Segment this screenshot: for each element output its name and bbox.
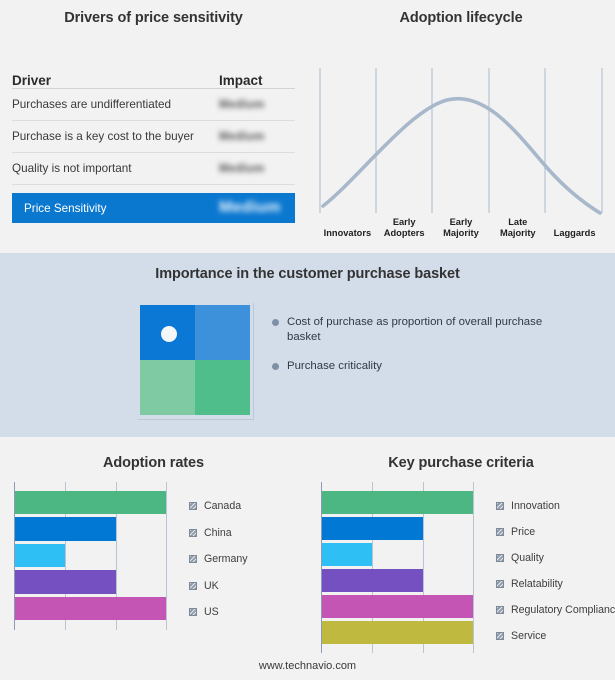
chart-legend: InnovationPriceQualityRelatabilityRegula… [496, 493, 615, 649]
adoption-rates-panel: Adoption rates CanadaChinaGermanyUKUS [0, 437, 307, 680]
purchase-basket-section: Importance in the customer purchase bask… [0, 253, 615, 437]
lifecycle-stage-laggards: Laggards [546, 206, 603, 240]
legend-label: Purchase criticality [287, 359, 382, 374]
bar-row-germany [15, 542, 167, 569]
adoption-lifecycle-chart: Innovators Early Adopters Early Majority… [319, 58, 603, 240]
top-section: Drivers of price sensitivity Driver Impa… [0, 0, 615, 253]
cell-impact: Medium [219, 98, 295, 111]
impact-value-redacted: Medium [219, 98, 264, 111]
bar-row-china [15, 516, 167, 543]
bar [15, 517, 116, 541]
bar-row-service [322, 619, 474, 645]
legend-item-china: China [189, 520, 248, 547]
legend-swatch-icon [496, 632, 504, 640]
position-marker-dot [161, 326, 177, 342]
table-row: Purchase is a key cost to the buyer Medi… [12, 121, 295, 153]
bottom-section: Adoption rates CanadaChinaGermanyUKUS Ke… [0, 437, 615, 680]
bar-row-price [322, 515, 474, 541]
footer-url: www.technavio.com [0, 660, 615, 672]
page-title-key-criteria: Key purchase criteria [307, 455, 615, 471]
legend-item-relatability: Relatability [496, 571, 615, 597]
legend-swatch-icon [189, 608, 197, 616]
column-header-driver: Driver [12, 73, 219, 88]
legend-item-germany: Germany [189, 546, 248, 573]
legend-item-uk: UK [189, 573, 248, 600]
cell-impact: Medium [219, 162, 295, 175]
cell-impact-highlighted: Medium [219, 199, 295, 217]
stage-line-2: Adopters [376, 228, 433, 239]
legend-label: Quality [511, 552, 544, 564]
table-row: Quality is not important Medium [12, 153, 295, 185]
impact-value-redacted: Medium [219, 130, 264, 143]
legend-label: Relatability [511, 578, 563, 590]
legend-swatch-icon [189, 529, 197, 537]
bar-row-us [15, 595, 167, 622]
legend-label: Regulatory Compliance [511, 604, 615, 616]
bar [15, 597, 166, 621]
stage-line-1: Innovators [319, 228, 376, 239]
lifecycle-stage-late-majority: Late Majority [489, 206, 546, 240]
bar [15, 544, 65, 568]
quadrant-top-right [195, 305, 250, 360]
cell-driver: Purchase is a key cost to the buyer [12, 130, 219, 143]
legend-label: Service [511, 630, 546, 642]
legend-item-service: Service [496, 623, 615, 649]
quadrant-matrix [140, 305, 250, 415]
infographic-page: Drivers of price sensitivity Driver Impa… [0, 0, 615, 680]
page-title-drivers: Drivers of price sensitivity [0, 10, 307, 26]
column-header-impact: Impact [219, 73, 295, 88]
bar [322, 569, 423, 592]
legend-swatch-icon [189, 502, 197, 510]
bar-row-innovation [322, 489, 474, 515]
lifecycle-stage-early-adopters: Early Adopters [376, 206, 433, 240]
legend-label: Germany [204, 553, 248, 565]
key-purchase-criteria-chart: InnovationPriceQualityRelatabilityRegula… [321, 482, 474, 653]
stage-line-2: Majority [433, 228, 490, 239]
stage-line-1: Laggards [546, 228, 603, 239]
key-purchase-criteria-panel: Key purchase criteria InnovationPriceQua… [307, 437, 615, 680]
bullet-icon [272, 319, 279, 326]
stage-line-2: Majority [489, 228, 546, 239]
page-title-lifecycle: Adoption lifecycle [307, 10, 615, 26]
plot-area [321, 482, 474, 653]
drivers-panel: Drivers of price sensitivity Driver Impa… [0, 0, 307, 253]
plot-area [14, 482, 167, 630]
impact-value-redacted: Medium [219, 199, 281, 217]
basket-legend: Cost of purchase as proportion of overal… [272, 315, 572, 388]
bar [322, 621, 473, 644]
page-title-basket: Importance in the customer purchase bask… [0, 266, 615, 282]
bar-row-regulatory-compliance [322, 593, 474, 619]
legend-swatch-icon [496, 554, 504, 562]
chart-legend: CanadaChinaGermanyUKUS [189, 493, 248, 626]
legend-swatch-icon [189, 582, 197, 590]
cell-driver: Purchases are undifferentiated [12, 98, 219, 111]
stage-line-1: Late [489, 217, 546, 228]
bullet-icon [272, 363, 279, 370]
cell-driver-highlighted: Price Sensitivity [24, 202, 219, 215]
bar-row-relatability [322, 567, 474, 593]
table-row-highlighted: Price Sensitivity Medium [12, 193, 295, 223]
lifecycle-stage-early-majority: Early Majority [433, 206, 490, 240]
bar-row-uk [15, 569, 167, 596]
impact-value-redacted: Medium [219, 162, 264, 175]
legend-label: US [204, 606, 219, 618]
legend-label: Innovation [511, 500, 560, 512]
bar-row-quality [322, 541, 474, 567]
legend-swatch-icon [496, 502, 504, 510]
legend-item-cost-of-purchase: Cost of purchase as proportion of overal… [272, 315, 572, 345]
bar [15, 491, 166, 515]
lifecycle-stage-labels: Innovators Early Adopters Early Majority… [319, 206, 603, 240]
adoption-rates-chart: CanadaChinaGermanyUKUS [14, 482, 167, 630]
legend-item-canada: Canada [189, 493, 248, 520]
legend-item-quality: Quality [496, 545, 615, 571]
stage-line-1: Early [376, 217, 433, 228]
legend-label: Canada [204, 500, 241, 512]
bar [15, 570, 116, 594]
bar [322, 517, 423, 540]
legend-label: China [204, 527, 232, 539]
table-row: Purchases are undifferentiated Medium [12, 89, 295, 121]
bell-curve-path [323, 99, 600, 213]
legend-item-price: Price [496, 519, 615, 545]
stage-line-1: Early [433, 217, 490, 228]
quadrant-bottom-left [140, 360, 195, 415]
legend-swatch-icon [496, 580, 504, 588]
legend-item-regulatory-compliance: Regulatory Compliance [496, 597, 615, 623]
quadrant-matrix-frame [138, 303, 254, 420]
lifecycle-stage-innovators: Innovators [319, 206, 376, 240]
cell-impact: Medium [219, 130, 295, 143]
legend-item-us: US [189, 599, 248, 626]
cell-driver: Quality is not important [12, 162, 219, 175]
bar [322, 491, 473, 514]
legend-swatch-icon [189, 555, 197, 563]
legend-label: Cost of purchase as proportion of overal… [287, 315, 572, 345]
drivers-table: Driver Impact Purchases are undifferenti… [12, 63, 295, 223]
lifecycle-panel: Adoption lifecycle Innovators [307, 0, 615, 253]
legend-swatch-icon [496, 606, 504, 614]
legend-label: UK [204, 580, 219, 592]
legend-label: Price [511, 526, 535, 538]
quadrant-bottom-right [195, 360, 250, 415]
lifecycle-gridlines [320, 68, 602, 213]
legend-item-purchase-criticality: Purchase criticality [272, 359, 572, 374]
page-title-adoption-rates: Adoption rates [0, 455, 307, 471]
legend-item-innovation: Innovation [496, 493, 615, 519]
bar [322, 595, 473, 618]
table-header-row: Driver Impact [12, 63, 295, 89]
legend-swatch-icon [496, 528, 504, 536]
bar [322, 543, 372, 566]
bar-row-canada [15, 489, 167, 516]
